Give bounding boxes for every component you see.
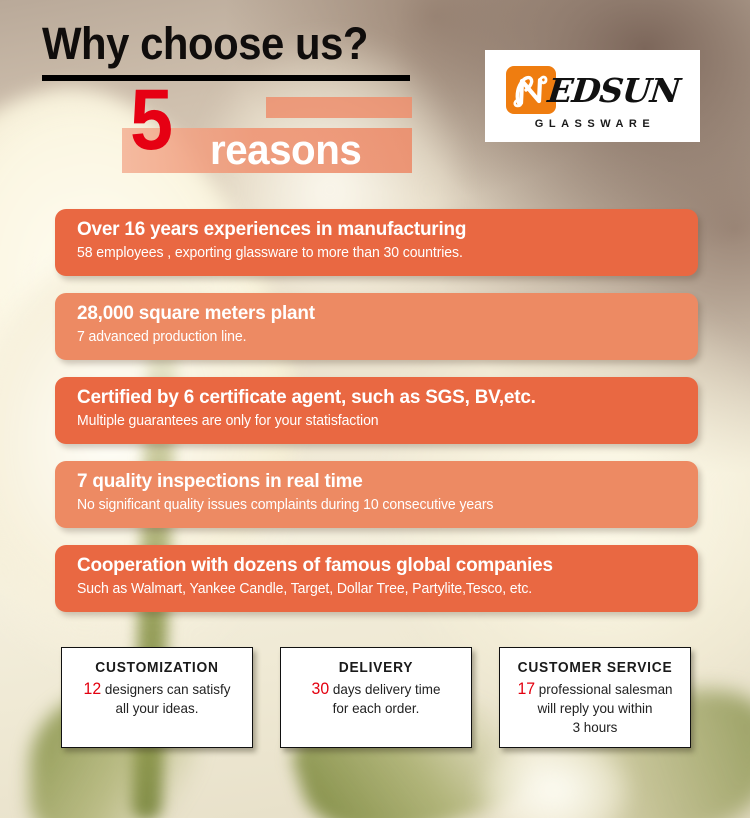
stat-title: CUSTOMIZATION [67,658,248,678]
stat-box-customer-service: CUSTOMER SERVICE 17 professional salesma… [499,647,691,748]
title-underline [42,75,410,81]
reason-subtitle: Such as Walmart, Yankee Candle, Target, … [77,578,679,600]
reason-title: Cooperation with dozens of famous global… [77,553,679,578]
reason-title: Over 16 years experiences in manufacturi… [77,217,679,242]
stat-line2: for each order. [333,700,420,716]
reason-list: Over 16 years experiences in manufacturi… [55,209,698,629]
reason-title: 7 quality inspections in real time [77,469,679,494]
logo-row: EDSUN [506,66,680,114]
stat-line2: all your ideas. [116,700,199,716]
stat-line1: professional salesman [535,681,672,697]
stat-number: 17 [517,680,535,698]
page-title: Why choose us? [42,18,368,70]
company-logo: EDSUN GLASSWARE [485,50,700,142]
stat-body: 30 days delivery time for each order. [285,678,467,718]
stat-box-customization: CUSTOMIZATION 12 designers can satisfy a… [61,647,253,748]
reason-count-word: reasons [210,129,361,171]
reason-subtitle: Multiple guarantees are only for your st… [77,410,679,432]
reason-subtitle: 58 employees , exporting glassware to mo… [77,242,679,264]
stat-title: CUSTOMER SERVICE [505,658,686,678]
accent-band-top [266,97,412,118]
stat-box-row: CUSTOMIZATION 12 designers can satisfy a… [61,647,691,748]
stat-line1: days delivery time [329,681,440,697]
stat-body: 12 designers can satisfy all your ideas. [66,678,248,718]
logo-wordmark: EDSUN [546,74,681,107]
reason-title: Certified by 6 certificate agent, such a… [77,385,679,410]
reason-title: 28,000 square meters plant [77,301,679,326]
reason-bar: 28,000 square meters plant 7 advanced pr… [55,293,698,360]
stat-line3: 3 hours [573,719,618,735]
reason-subtitle: 7 advanced production line. [77,326,679,348]
reason-bar: Over 16 years experiences in manufacturi… [55,209,698,276]
reason-bar: Cooperation with dozens of famous global… [55,545,698,612]
stat-number: 30 [312,680,330,698]
reason-bar: 7 quality inspections in real time No si… [55,461,698,528]
poster-root: Why choose us? 5 reasons EDSUN GLASSWARE… [0,0,750,818]
stat-number: 12 [84,680,102,698]
reason-bar: Certified by 6 certificate agent, such a… [55,377,698,444]
stat-line1: designers can satisfy [101,681,230,697]
stat-line2: will reply you within [537,700,652,716]
reason-subtitle: No significant quality issues complaints… [77,494,679,516]
stat-body: 17 professional salesman will reply you … [504,678,686,737]
stat-box-delivery: DELIVERY 30 days delivery time for each … [280,647,472,748]
logo-tagline: GLASSWARE [530,118,655,130]
reason-count-number: 5 [130,77,173,163]
stat-title: DELIVERY [286,658,467,678]
